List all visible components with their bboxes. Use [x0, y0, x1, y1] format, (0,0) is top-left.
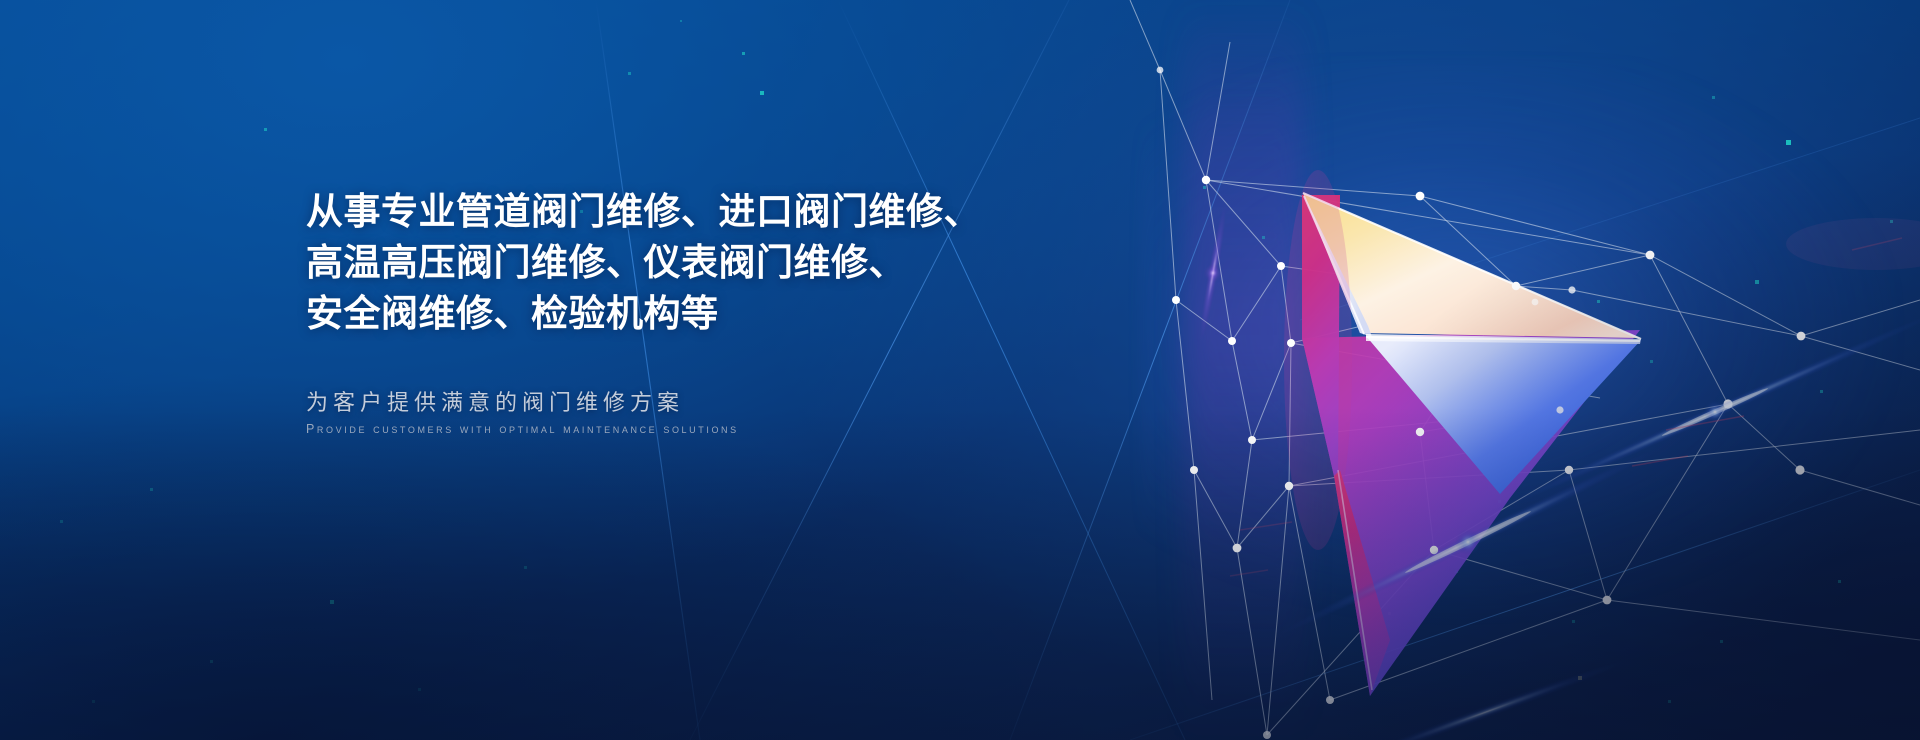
wireframe-network — [1130, 0, 1920, 735]
particle-field-warm — [1388, 612, 1582, 680]
prism-spine — [1303, 193, 1372, 337]
prism-top-face-main — [1303, 193, 1640, 338]
lens-flares — [1192, 203, 1920, 740]
prism-right-face — [1366, 336, 1641, 494]
hero-banner: 从事专业管道阀门维修、进口阀门维修、 高温高压阀门维修、仪表阀门维修、 安全阀维… — [0, 0, 1920, 740]
prism-glow — [1140, 60, 1900, 620]
headline-line-2: 高温高压阀门维修、仪表阀门维修、 — [306, 237, 1046, 288]
prism-rim-spine — [1304, 196, 1364, 334]
subtitle-english: Provide customers with optimal maintenan… — [306, 422, 1046, 437]
prism-left-face — [1302, 195, 1340, 480]
prism-rim-lower — [1338, 470, 1372, 690]
copy-spacer — [306, 339, 1046, 389]
headline-line-3: 安全阀维修、检验机构等 — [306, 288, 1046, 339]
prism-left-face-lower — [1334, 470, 1390, 696]
prism-rim-horizontal — [1366, 337, 1640, 341]
prism-spine-horizontal — [1366, 334, 1641, 344]
prism-rim-top — [1303, 193, 1641, 339]
purple-column-glow — [1184, 0, 1304, 740]
headline-line-1: 从事专业管道阀门维修、进口阀门维修、 — [306, 186, 1046, 237]
prism-graphic — [1284, 170, 1641, 696]
prism-belly-face — [1302, 330, 1640, 696]
subtitle-chinese: 为客户提供满意的阀门维修方案 — [306, 389, 1046, 417]
banner-copy: 从事专业管道阀门维修、进口阀门维修、 高温高压阀门维修、仪表阀门维修、 安全阀维… — [306, 186, 1046, 437]
network-nodes — [1157, 67, 1806, 739]
